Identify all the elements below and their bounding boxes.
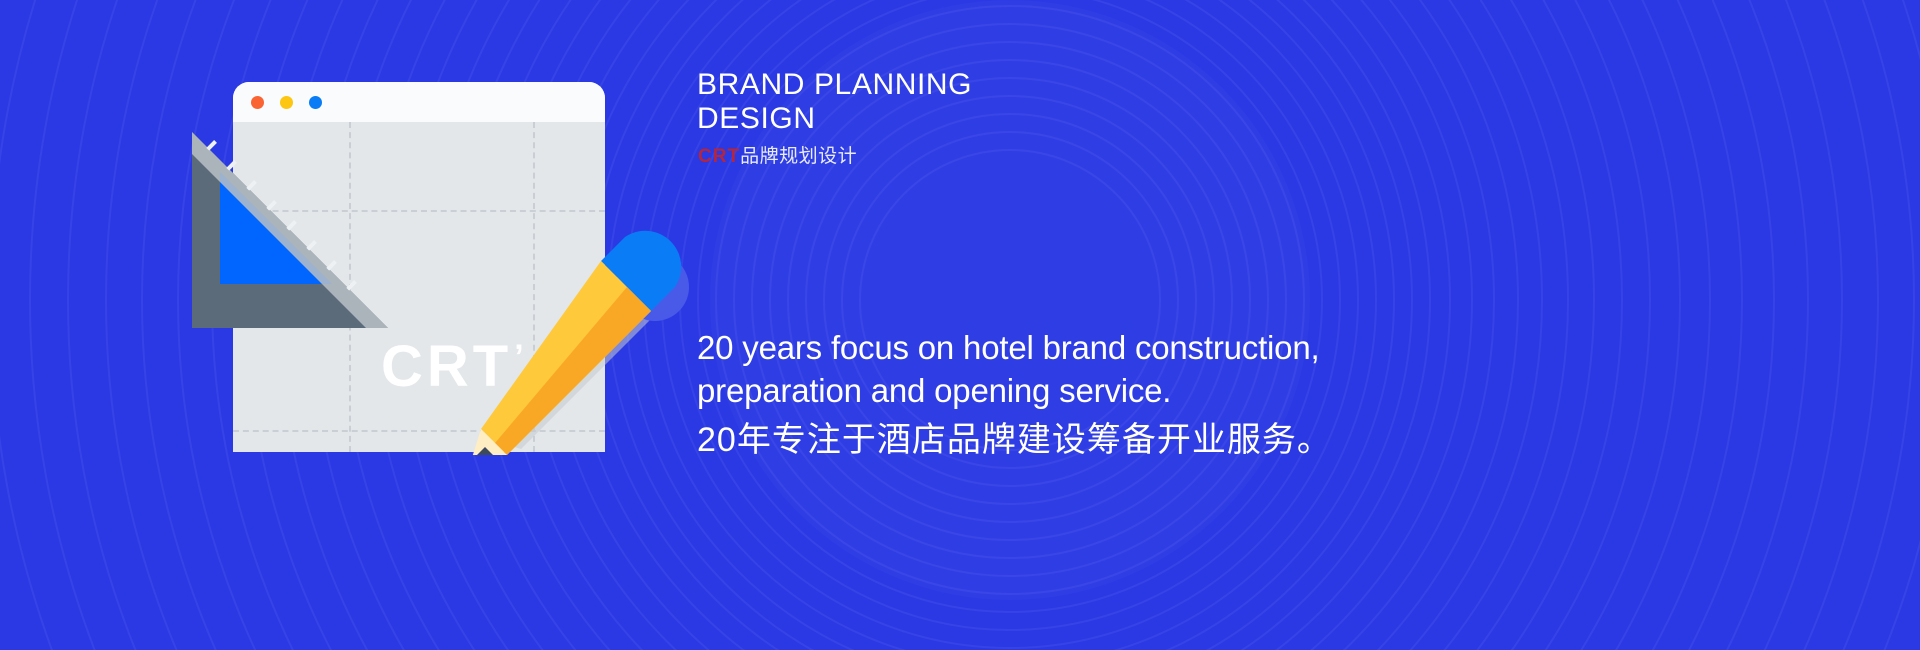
subtitle: CRT品牌规划设计 — [698, 141, 857, 168]
tagline-chinese: 20年专注于酒店品牌建设筹备开业服务。 — [697, 412, 1332, 461]
subtitle-chinese: 品牌规划设计 — [740, 146, 857, 167]
page-title: BRAND PLANNING DESIGN — [697, 68, 972, 136]
minimize-dot-icon[interactable] — [280, 96, 293, 109]
browser-titlebar — [233, 82, 605, 122]
brand-banner: CRT’ — [0, 0, 1920, 650]
copy-column: BRAND PLANNING DESIGN CRT品牌规划设计 20 years… — [697, 0, 1797, 650]
maximize-dot-icon[interactable] — [309, 96, 322, 109]
pencil-icon — [455, 225, 695, 455]
brand-code-label: CRT — [698, 146, 740, 167]
set-square-ruler-icon — [190, 130, 390, 330]
close-dot-icon[interactable] — [251, 96, 264, 109]
tagline-english: 20 years focus on hotel brand constructi… — [697, 327, 1397, 413]
